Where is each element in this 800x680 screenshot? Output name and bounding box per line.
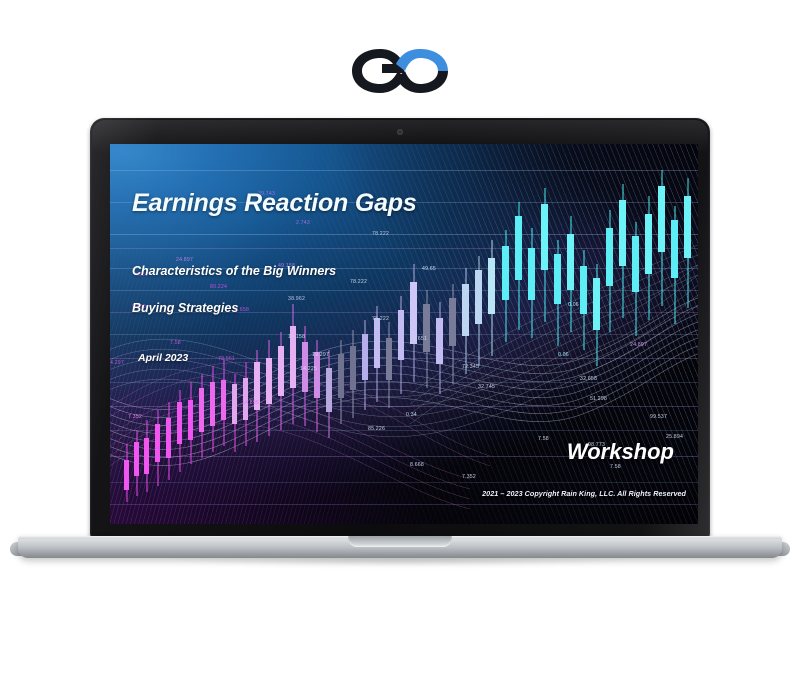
logo-gc-infinity-icon [350, 43, 450, 99]
candle [593, 264, 600, 366]
candle [554, 240, 561, 346]
candle [502, 230, 509, 342]
chart-value-label: 2.743 [296, 220, 310, 226]
chart-value-label: 78.222 [372, 231, 389, 237]
candle [266, 340, 272, 436]
chart-value-label: 99.537 [650, 414, 667, 420]
slide-workshop-label: Workshop [567, 439, 674, 465]
chart-value-label: 16.158 [288, 334, 305, 340]
candle [528, 228, 535, 338]
page-title: Earnings Reaction Gaps [132, 189, 417, 218]
candle [144, 420, 149, 492]
candle [645, 196, 652, 320]
chart-value-label: 72.345 [462, 364, 479, 370]
candle [436, 302, 443, 394]
chart-value-label: 49.651 [410, 336, 427, 342]
chart-value-label: 78.222 [350, 279, 367, 285]
slide-copyright: 2021 – 2023 Copyright Rain King, LLC. Al… [482, 489, 686, 498]
candle [188, 382, 193, 464]
candle [326, 350, 332, 438]
candle [386, 322, 392, 408]
candle [449, 284, 456, 384]
chart-value-label: 0.06 [558, 352, 569, 358]
candle [398, 296, 404, 394]
chart-value-label: 24.897 [630, 342, 647, 348]
candle [232, 374, 237, 452]
brand-logo [0, 36, 800, 106]
candle [134, 430, 139, 496]
candle [166, 402, 171, 480]
chart-value-label: 0.06 [568, 302, 579, 308]
candle [302, 326, 308, 426]
chart-value-label: 32.658 [580, 376, 597, 382]
candle [338, 340, 344, 424]
chart-value-label: 8.668 [410, 462, 424, 468]
chart-value-label: 78.561 [218, 356, 235, 362]
candle [671, 206, 678, 324]
candle [462, 268, 469, 374]
slide-date: April 2023 [138, 352, 188, 364]
candle [254, 350, 260, 442]
candle [362, 320, 368, 410]
laptop-screen[interactable]: 39.7432.74378.22224.89749.15849.654.6517… [110, 144, 698, 524]
chart-value-label: 38.962 [288, 296, 305, 302]
candle [580, 250, 587, 350]
slide-subtitle-1: Characteristics of the Big Winners [132, 264, 336, 278]
slide-subtitle-2: Buying Strategies [132, 301, 238, 315]
chart-value-label: 32.745 [478, 384, 495, 390]
candle [177, 390, 182, 472]
chart-value-label: 78.222 [372, 316, 389, 322]
chart-value-label: 0.34 [406, 412, 417, 418]
chart-value-label: 14.895 [242, 400, 259, 406]
chart-value-label: 7.352 [128, 414, 142, 420]
candle [488, 240, 495, 356]
laptop-base-notch [348, 536, 452, 547]
chart-value-label: 19.297 [312, 352, 329, 358]
candle [541, 188, 548, 322]
chart-value-label: 49.65 [422, 266, 436, 272]
candle [410, 264, 417, 382]
candle [199, 374, 204, 458]
chart-value-label: 24.897 [176, 257, 193, 263]
candle [606, 210, 613, 332]
candle [278, 332, 284, 430]
candle [124, 444, 129, 502]
candle [155, 410, 160, 486]
candle [567, 216, 574, 332]
chart-value-label: 14.225 [300, 366, 317, 372]
candle [210, 366, 215, 452]
chart-value-label: 7.58 [538, 436, 549, 442]
chart-value-label: 80.224 [210, 284, 227, 290]
chart-value-label: 7.58 [170, 340, 181, 346]
chart-value-label: 7.352 [462, 474, 476, 480]
webcam-icon [397, 129, 403, 135]
candle [475, 256, 482, 366]
chart-value-label: 85.226 [368, 426, 385, 432]
candle [221, 360, 226, 446]
candle [632, 222, 639, 336]
laptop-drop-shadow [60, 558, 740, 576]
laptop-device: 39.7432.74378.22224.89749.15849.654.6517… [0, 118, 800, 578]
candle [350, 330, 356, 418]
chart-value-label: 51.298 [590, 396, 607, 402]
candle [684, 178, 691, 308]
candle [658, 170, 665, 306]
chart-value-label: 4.297 [110, 360, 124, 366]
candle [619, 184, 626, 318]
candle [290, 304, 296, 424]
candle [515, 202, 522, 330]
